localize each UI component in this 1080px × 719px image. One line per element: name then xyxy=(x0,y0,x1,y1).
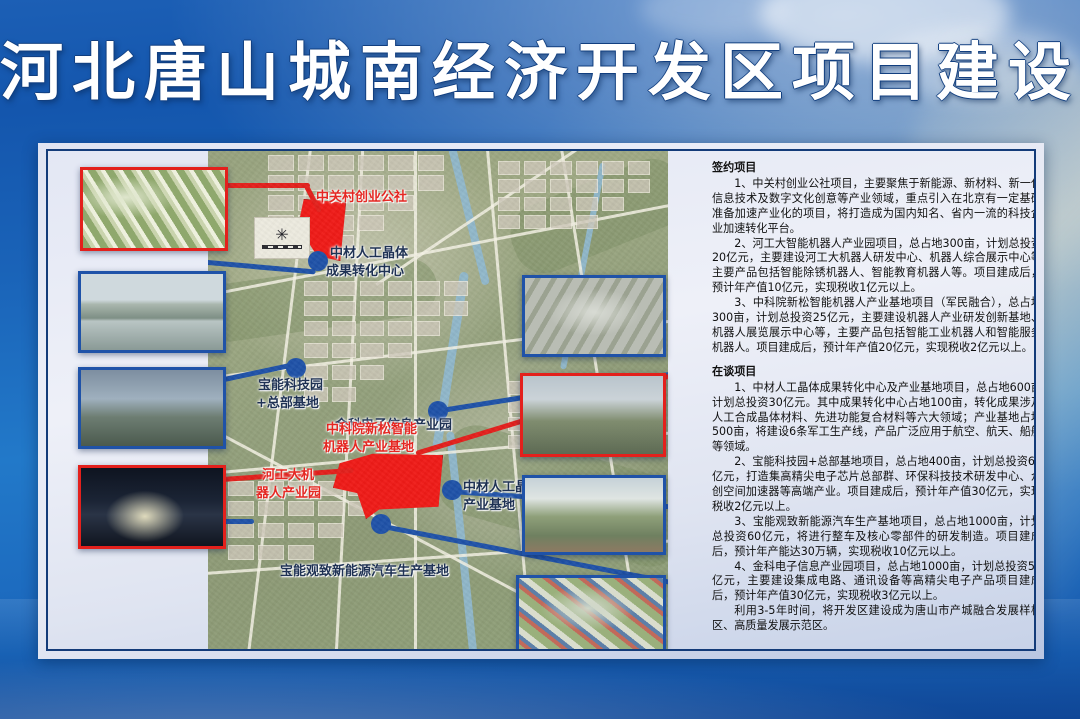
photo-lake-campus-image xyxy=(81,274,223,350)
river-main-upper xyxy=(446,151,490,286)
compass-legend: ✳ xyxy=(254,217,310,259)
title-bar: 河北唐山城南经济开发区项目建设 xyxy=(0,24,1080,120)
map-label-hegongda-2: 器人产业园 xyxy=(256,487,321,502)
marker-zhongcai-base[interactable] xyxy=(442,480,462,500)
photo-highrise[interactable] xyxy=(78,367,226,449)
talking-item-2: 2、宝能科技园+总部基地项目，总占地400亩，计划总投资60亿元，打造集高精尖电… xyxy=(712,455,1036,515)
marker-baoneng-auto[interactable] xyxy=(371,514,391,534)
marker-baoneng-park[interactable] xyxy=(286,358,306,378)
map-label-xinsong-1: 中科院新松智能 xyxy=(326,423,417,438)
compass-rose-icon: ✳ xyxy=(275,227,288,243)
talking-item-3: 3、宝能观致新能源汽车生产基地项目，总占地1000亩，计划总投资60亿元，将进行… xyxy=(712,515,1036,560)
photo-zhongguancun-image xyxy=(83,170,225,248)
photo-grey-campus-image xyxy=(525,278,663,354)
map-label-hegongda-1: 河工大机 xyxy=(262,469,314,484)
map-label-baoneng-auto: 宝能观致新能源汽车生产基地 xyxy=(280,565,449,580)
marker-zhongcai-center[interactable] xyxy=(308,251,328,271)
signed-section-title: 签约项目 xyxy=(712,161,1036,176)
closing-statement: 利用3-5年时间，将开发区建设成为唐山市产城融合发展样板区、高质量发展示范区。 xyxy=(712,604,1036,634)
map-label-xinsong-2: 机器人产业基地 xyxy=(323,441,414,456)
photo-towers-green[interactable] xyxy=(520,373,666,457)
map-label-baoneng-park-1: 宝能科技园 xyxy=(258,379,323,394)
map-label-zhongguancun: 中关村创业公社 xyxy=(316,191,407,206)
map-label-zhongcai-base-2: 产业基地 xyxy=(463,499,515,514)
scale-bar-icon xyxy=(262,245,302,249)
talking-item-4: 4、金科电子信息产业园项目，总占地1000亩，计划总投资50亿元，主要建设集成电… xyxy=(712,560,1036,605)
map-label-baoneng-park-2: +总部基地 xyxy=(256,397,319,412)
project-text-panel: 签约项目 1、中关村创业公社项目，主要聚焦于新能源、新材料、新一代信息技术及数字… xyxy=(712,161,1036,641)
poster-root: 河北唐山城南经济开发区项目建设 xyxy=(0,0,1080,719)
photo-grey-campus[interactable] xyxy=(522,275,666,357)
photo-zhongguancun[interactable] xyxy=(80,167,228,251)
photo-lake-campus[interactable] xyxy=(78,271,226,353)
content-board-inner: ✳ 中关村创业公社 xyxy=(46,149,1036,651)
photo-white-campus[interactable] xyxy=(522,475,666,555)
photo-aerial-color[interactable] xyxy=(516,575,666,651)
photo-white-campus-image xyxy=(525,478,663,552)
content-board: ✳ 中关村创业公社 xyxy=(38,143,1044,659)
talking-section-title: 在谈项目 xyxy=(712,365,1036,380)
photo-night-plaza[interactable] xyxy=(78,465,226,549)
signed-item-3: 3、中科院新松智能机器人产业基地项目（军民融合），总占地300亩，计划总投资25… xyxy=(712,296,1036,356)
photo-towers-green-image xyxy=(523,376,663,454)
page-title: 河北唐山城南经济开发区项目建设 xyxy=(0,41,1080,104)
photo-highrise-image xyxy=(81,370,223,446)
photo-aerial-color-image xyxy=(519,578,663,651)
photo-night-plaza-image xyxy=(81,468,223,546)
signed-item-2: 2、河工大智能机器人产业园项目，总占地300亩，计划总投资20亿元，主要建设河工… xyxy=(712,237,1036,297)
signed-item-1: 1、中关村创业公社项目，主要聚焦于新能源、新材料、新一代信息技术及数字文化创意等… xyxy=(712,177,1036,237)
blockfield-northeast xyxy=(498,161,658,281)
section-gap xyxy=(712,356,1036,365)
map-label-zhongcai-center-2: 成果转化中心 xyxy=(326,265,404,280)
map-label-zhongcai-center-1: 中材人工晶体 xyxy=(330,247,408,262)
talking-item-1: 1、中材人工晶体成果转化中心及产业基地项目，总占地600亩计划总投资30亿元。其… xyxy=(712,381,1036,456)
